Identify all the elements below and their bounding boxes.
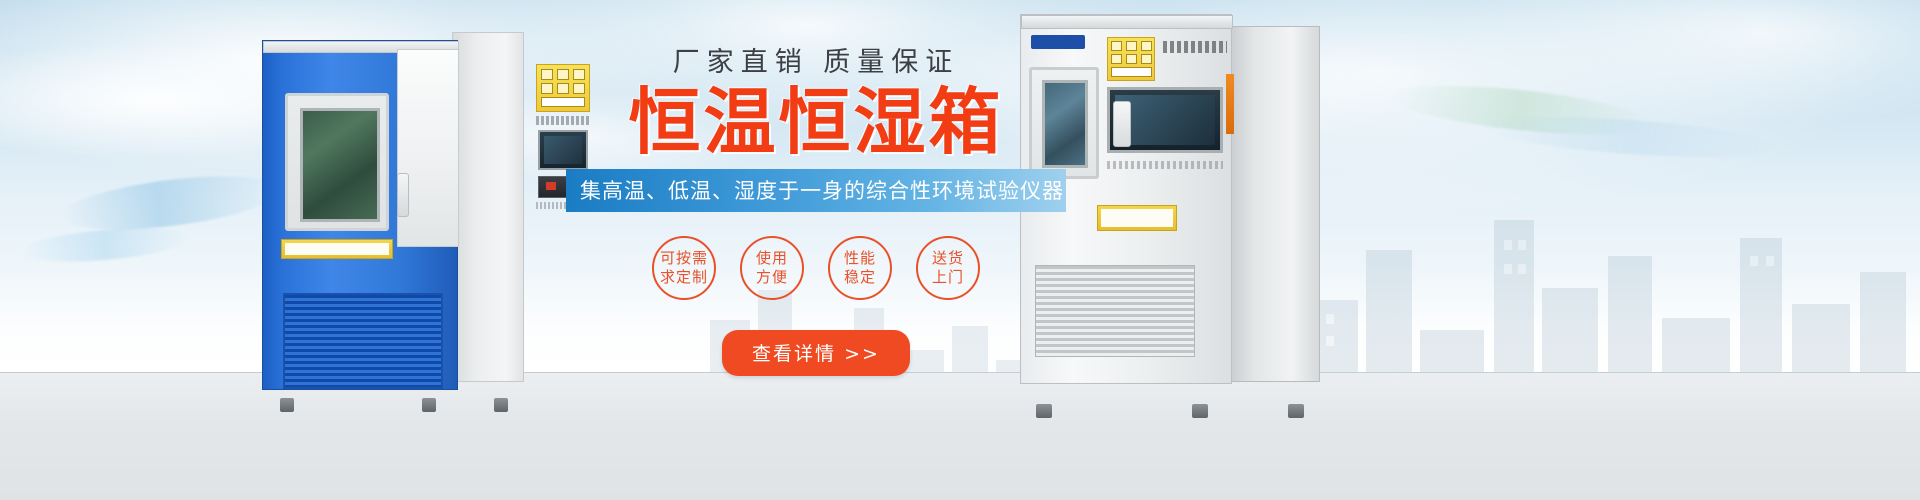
right-chamber-yellow-plate [1097,205,1177,231]
product-image-left-chamber [262,32,524,400]
feature-badge-easy-to-use[interactable]: 使用 方便 [740,236,804,300]
feature-badge-home-delivery[interactable]: 送货 上门 [916,236,980,300]
badge-line-2: 稳定 [844,268,876,287]
left-chamber-vent-grille [283,293,443,389]
swoosh-ribbon-right-lower [1479,110,1781,165]
left-chamber-view-window [300,108,380,222]
warning-label-icon [1107,37,1155,81]
badge-line-1: 可按需 [660,249,708,268]
badge-line-1: 使用 [756,249,788,268]
badge-line-2: 求定制 [660,268,708,287]
banner-headline: 恒温恒湿箱 [566,84,1066,160]
left-chamber-control-panel [397,49,459,247]
chamber-foot [422,398,436,412]
chamber-foot [280,398,294,412]
left-chamber-yellow-plate [281,239,393,259]
banner-copy-block: 厂家直销 质量保证 恒温恒湿箱 集高温、低温、湿度于一身的综合性环境试验仪器 可… [566,46,1066,376]
feature-badge-stable-performance[interactable]: 性能 稳定 [828,236,892,300]
banner-tagline: 厂家直销 质量保证 [566,46,1066,78]
badge-line-1: 送货 [932,249,964,268]
right-chamber-orange-stripe [1226,74,1234,134]
swoosh-ribbon-right-upper [1389,77,1652,144]
right-chamber-manufacturer-text [1107,161,1223,169]
badge-line-2: 方便 [756,268,788,287]
right-chamber-model-text [1163,41,1227,53]
banner-subtitle: 集高温、低温、湿度于一身的综合性环境试验仪器 [566,169,1066,212]
chamber-foot [1036,404,1052,418]
cta-row: 查看详情 >> [566,330,1066,376]
chamber-foot [1192,404,1208,418]
left-chamber-side-panel [452,32,524,382]
swoosh-ribbon-left-upper [58,167,282,239]
right-chamber-top-cap [1021,15,1233,29]
badge-line-1: 性能 [844,249,876,268]
swoosh-ribbon-left-lower [19,223,191,268]
left-chamber-body [262,40,458,390]
left-chamber-door-handle [397,173,409,217]
chamber-foot [1288,404,1304,418]
chamber-foot [494,398,508,412]
left-chamber-door [285,93,389,231]
right-chamber-side-panel [1228,26,1320,382]
view-details-button[interactable]: 查看详情 >> [722,330,910,376]
badge-line-2: 上门 [932,268,964,287]
product-banner: 厂家直销 质量保证 恒温恒湿箱 集高温、低温、湿度于一身的综合性环境试验仪器 可… [0,0,1920,500]
right-chamber-door-handle [1113,101,1131,147]
feature-badge-custom[interactable]: 可按需 求定制 [652,236,716,300]
feature-badge-list: 可按需 求定制 使用 方便 性能 稳定 送货 上门 [566,236,1066,300]
